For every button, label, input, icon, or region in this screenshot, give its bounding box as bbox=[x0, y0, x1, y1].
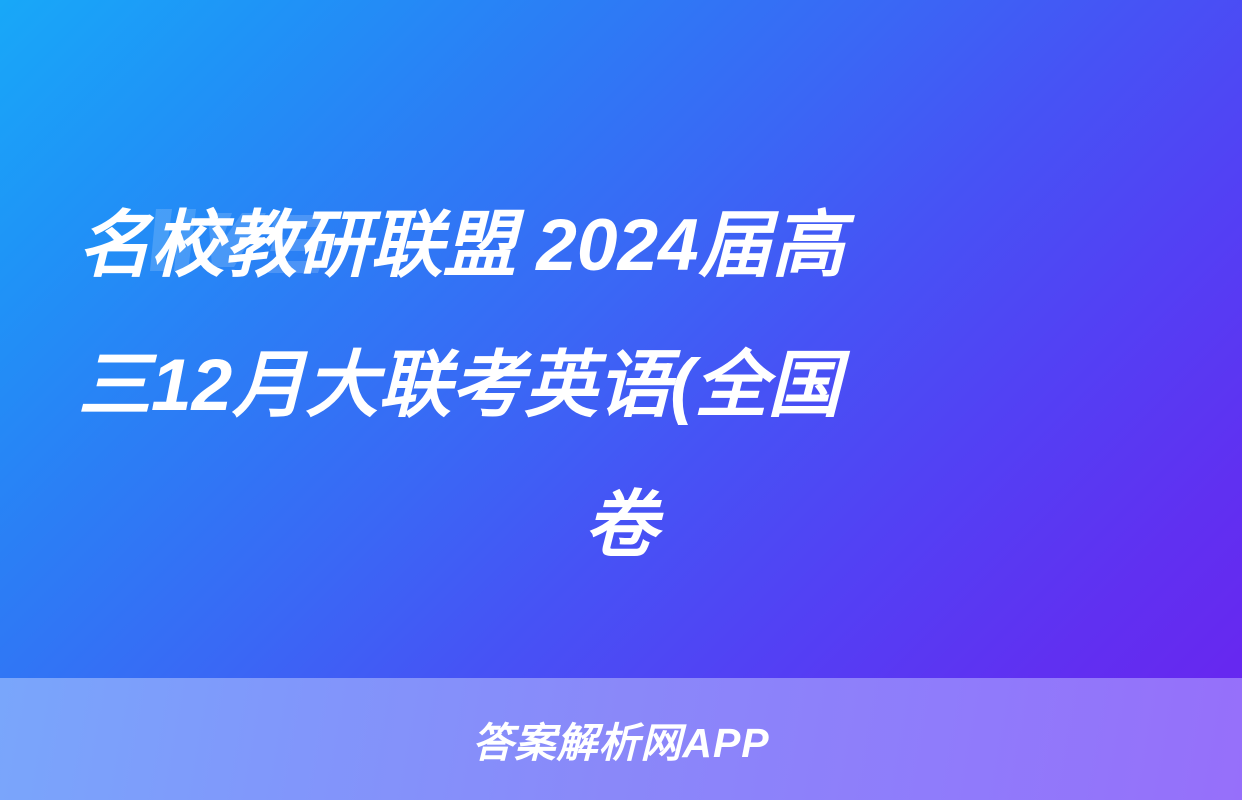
exam-cover-banner: 名校教研联盟 2024届高 三12月大联考英语(全国 卷 答案解析网APP bbox=[0, 0, 1242, 800]
footer-brand-band: 答案解析网APP bbox=[0, 678, 1242, 800]
app-brand-label: 答案解析网APP bbox=[472, 709, 769, 769]
page-title: 名校教研联盟 2024届高 三12月大联考英语(全国 卷 bbox=[0, 176, 1242, 596]
title-line-1: 名校教研联盟 2024届高 bbox=[78, 176, 1164, 316]
title-line-3: 卷 bbox=[78, 456, 1164, 596]
title-line-2: 三12月大联考英语(全国 bbox=[78, 316, 1164, 456]
